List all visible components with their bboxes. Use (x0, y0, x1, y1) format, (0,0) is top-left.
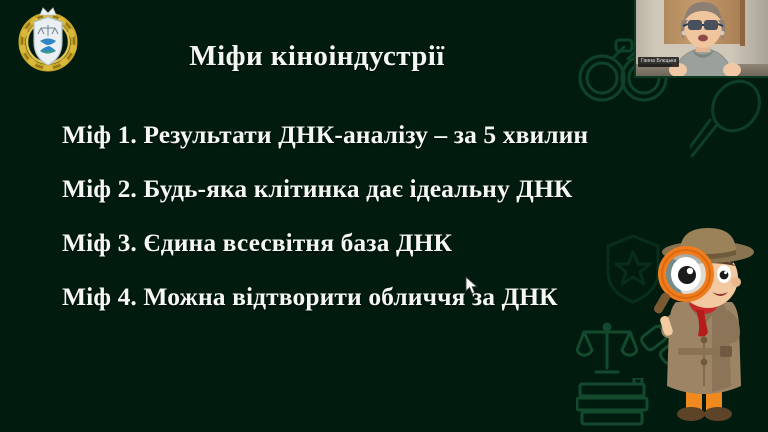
list-item: Міф 4. Можна відтворити обличчя за ДНК (62, 281, 722, 335)
presentation-slide: Міфи кіноіндустрії Міф 1. Результати ДНК… (0, 0, 768, 432)
page-title: Міфи кіноіндустрії (0, 40, 634, 73)
webcam-participant-name: Ганна Блєцька (638, 57, 679, 67)
myth-list: Міф 1. Результати ДНК-аналізу – за 5 хви… (62, 119, 722, 335)
detective-illustration (636, 222, 768, 432)
list-item: Міф 3. Єдина всесвітня база ДНК (62, 227, 722, 281)
list-item: Міф 1. Результати ДНК-аналізу – за 5 хви… (62, 119, 722, 173)
mouse-pointer (465, 276, 478, 295)
list-item: Міф 2. Будь-яка клітинка дає ідеальну ДН… (62, 173, 722, 227)
webcam-video-feed[interactable]: Ганна Блєцька (634, 0, 768, 78)
